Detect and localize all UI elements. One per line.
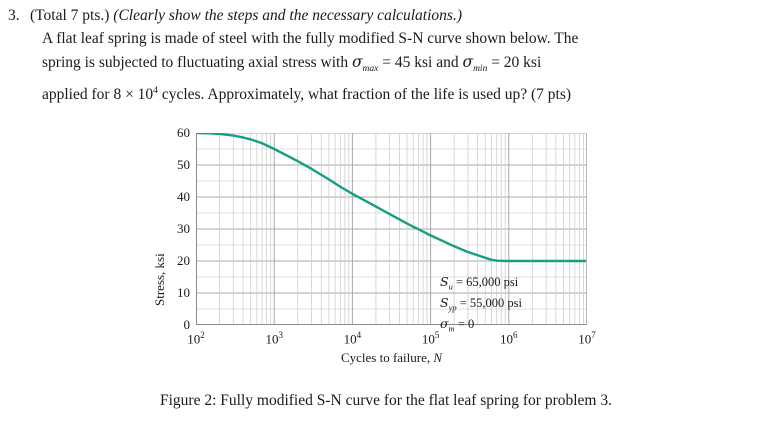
problem-body-line-3-text-b: cycles. Approximately, what fraction of … [158, 86, 571, 103]
figure-caption: Figure 2: Fully modified S-N curve for t… [0, 392, 772, 410]
annotation-row: Syp = 55,000 psi [440, 295, 522, 316]
x-axis-label-text: Cycles to failure, [341, 350, 433, 365]
problem-body-line-2: spring is subjected to fluctuating axial… [42, 51, 760, 81]
sigma-max-symbol: σ [352, 53, 363, 71]
y-axis-label: Stress, ksi [152, 253, 168, 306]
x-axis-label: Cycles to failure, N [196, 350, 587, 366]
x-tick-label: 103 [265, 330, 283, 347]
annotation-subscript: u [449, 282, 453, 292]
y-tick-label: 50 [177, 157, 190, 173]
y-tick-label: 10 [177, 285, 190, 301]
y-tick-label: 20 [177, 253, 190, 269]
chart-annotation: Su = 65,000 psiSyp = 55,000 psiσm = 0 [440, 274, 522, 337]
problem-header-line: 3.(Total 7 pts.) (Clearly show the steps… [8, 6, 764, 26]
annotation-value: = 65,000 psi [456, 275, 518, 289]
annotation-row: Su = 65,000 psi [440, 274, 522, 295]
sn-curve-figure: Stress, ksi 0102030405060 10210310410510… [0, 118, 772, 373]
y-tick-label: 30 [177, 221, 190, 237]
problem-body-line-3-text-a: applied for 8 × 10 [42, 86, 153, 103]
x-tick-label: 107 [578, 330, 596, 347]
problem-body-line-2-text-a: spring is subjected to fluctuating axial… [42, 54, 348, 71]
annotation-subscript: m [449, 324, 455, 334]
annotation-symbol: S [440, 295, 449, 310]
problem-number: 3. [8, 6, 30, 26]
problem-statement: 3.(Total 7 pts.) (Clearly show the steps… [8, 6, 764, 107]
problem-points: (Total 7 pts.) [30, 7, 109, 24]
document-page: 3.(Total 7 pts.) (Clearly show the steps… [0, 0, 772, 435]
problem-body-line-2-text-b: = 45 ksi and [382, 54, 458, 71]
annotation-value: = 55,000 psi [460, 296, 522, 310]
plot-frame [196, 133, 587, 325]
y-tick-label: 40 [177, 189, 190, 205]
annotation-row: σm = 0 [440, 316, 522, 337]
problem-body-line-3: applied for 8 × 104 cycles. Approximatel… [42, 80, 760, 107]
x-tick-label: 104 [344, 330, 362, 347]
annotation-symbol: σ [440, 316, 449, 331]
x-tick-label: 102 [187, 330, 205, 347]
annotation-subscript: yp [449, 303, 457, 313]
sigma-min-subscript: min [473, 64, 487, 74]
problem-body-line-2-text-c: = 20 ksi [491, 54, 541, 71]
annotation-symbol: S [440, 274, 449, 289]
x-tick-label: 105 [422, 330, 440, 347]
problem-instruction: (Clearly show the steps and the necessar… [113, 7, 462, 24]
sigma-max-subscript: max [363, 64, 379, 74]
annotation-value: = 0 [458, 317, 474, 331]
problem-body: A flat leaf spring is made of steel with… [42, 28, 760, 107]
sigma-min-symbol: σ [462, 53, 473, 71]
plot-area: 0102030405060 102103104105106107 [196, 133, 587, 325]
problem-body-line-1: A flat leaf spring is made of steel with… [42, 28, 760, 51]
y-tick-label: 60 [177, 125, 190, 141]
x-axis-label-symbol: N [433, 350, 442, 365]
